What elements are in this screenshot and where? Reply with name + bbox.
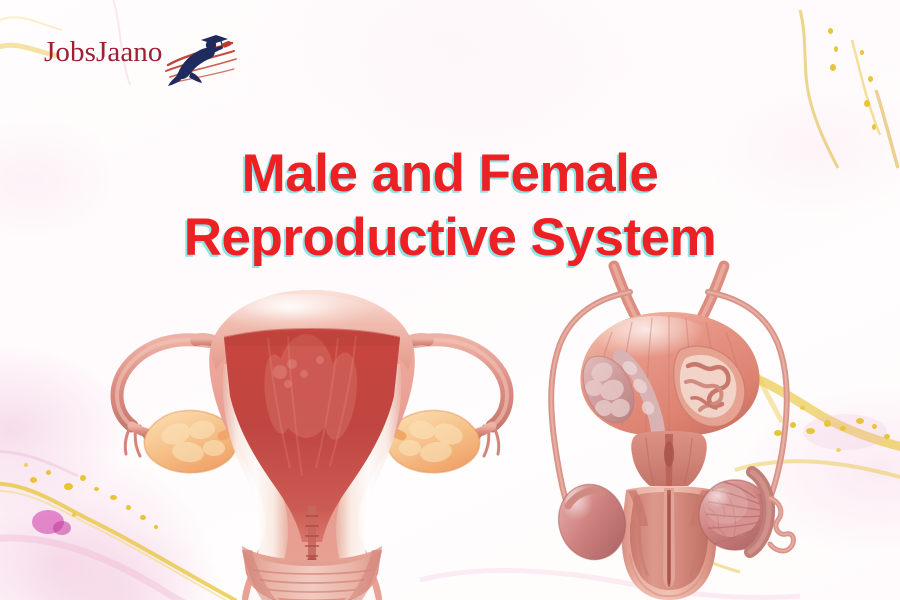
running-graduate-icon — [148, 25, 238, 87]
logo-wordmark: JobsJaano — [44, 38, 163, 67]
page-title: Male and Female Reproductive System — [0, 142, 900, 271]
female-reproductive-system-diagram — [92, 268, 532, 600]
male-reproductive-system-diagram — [528, 258, 810, 600]
jobsjaano-logo[interactable]: JobsJaano — [44, 27, 234, 89]
poster-canvas: JobsJaano — [0, 0, 900, 600]
